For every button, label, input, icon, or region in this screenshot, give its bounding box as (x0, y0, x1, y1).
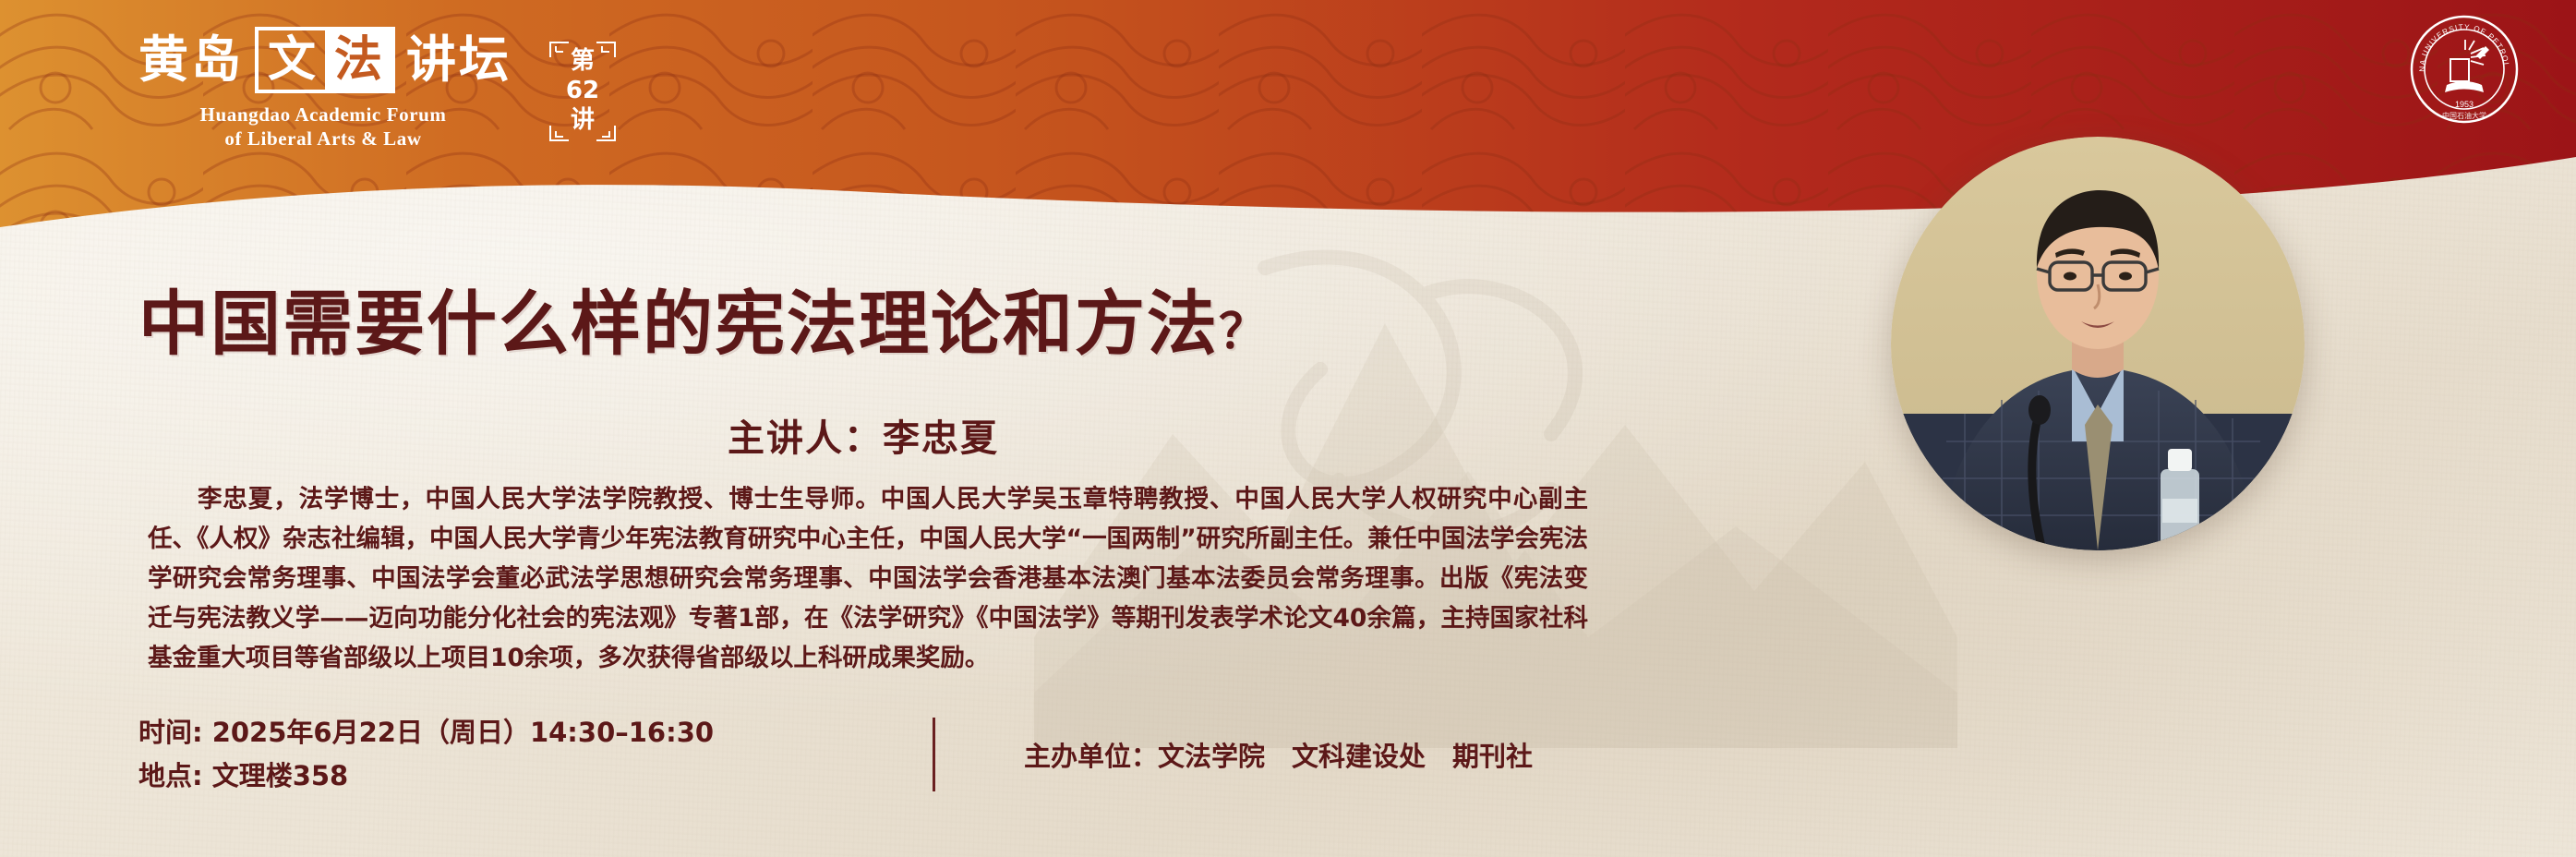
speaker-line: 主讲人：李忠夏 (138, 408, 1588, 462)
session-suffix: 讲 (571, 106, 595, 136)
forum-seal-box: 文 法 (255, 27, 395, 93)
session-badge: 第 62 讲 (548, 41, 617, 142)
session-prefix: 第 (571, 47, 595, 77)
svg-text:中国石油大学: 中国石油大学 (2442, 111, 2486, 120)
session-number: 62 (566, 77, 599, 106)
forum-logo: 黄岛 文 法 讲坛 Huangdao Academic Forum of Lib… (138, 26, 526, 137)
lecture-location: 地点: 文理楼358 (138, 754, 933, 798)
footer-info: 时间: 2025年6月22日（周日）14:30–16:30 地点: 文理楼358… (138, 704, 1616, 805)
university-seal-logo-icon: CHINA UNIVERSITY OF PETROLEUM 1953 中国石油大… (2410, 15, 2519, 124)
seal-char-fa: 法 (325, 30, 391, 90)
speaker-name: 李忠夏 (883, 417, 999, 460)
footer-time-location: 时间: 2025年6月22日（周日）14:30–16:30 地点: 文理楼358 (138, 711, 933, 798)
forum-name-en: Huangdao Academic Forum of Liberal Arts … (138, 103, 508, 151)
forum-logo-cn-row: 黄岛 文 法 讲坛 (138, 26, 526, 94)
lecture-poster: 黄岛 文 法 讲坛 Huangdao Academic Forum of Lib… (0, 0, 2576, 857)
session-badge-text: 第 62 讲 (548, 41, 617, 142)
forum-name-left: 黄岛 (138, 35, 244, 85)
forum-name-right: 讲坛 (406, 35, 512, 85)
speaker-label: 主讲人： (728, 417, 883, 460)
svg-text:CHINA UNIVERSITY OF PETROLEUM: CHINA UNIVERSITY OF PETROLEUM (2410, 15, 2510, 72)
forum-name-en-line2: of Liberal Arts & Law (138, 127, 508, 151)
speaker-portrait (1891, 137, 2305, 550)
lecture-title: 中国需要什么样的宪法理论和方法？ (138, 286, 1588, 362)
svg-text:1953: 1953 (2455, 100, 2474, 109)
footer-divider (933, 718, 935, 791)
lecture-title-question-mark: ？ (1219, 305, 1269, 360)
seal-char-wen: 文 (259, 30, 325, 90)
lecture-organizers: 主办单位：文法学院 文科建设处 期刊社 (1024, 735, 1533, 774)
forum-name-en-line1: Huangdao Academic Forum (138, 103, 508, 127)
lecture-time: 时间: 2025年6月22日（周日）14:30–16:30 (138, 711, 933, 754)
speaker-biography: 李忠夏，法学博士，中国人民大学法学院教授、博士生导师。中国人民大学吴玉章特聘教授… (148, 480, 1588, 679)
lecture-title-text: 中国需要什么样的宪法理论和方法 (138, 283, 1219, 365)
